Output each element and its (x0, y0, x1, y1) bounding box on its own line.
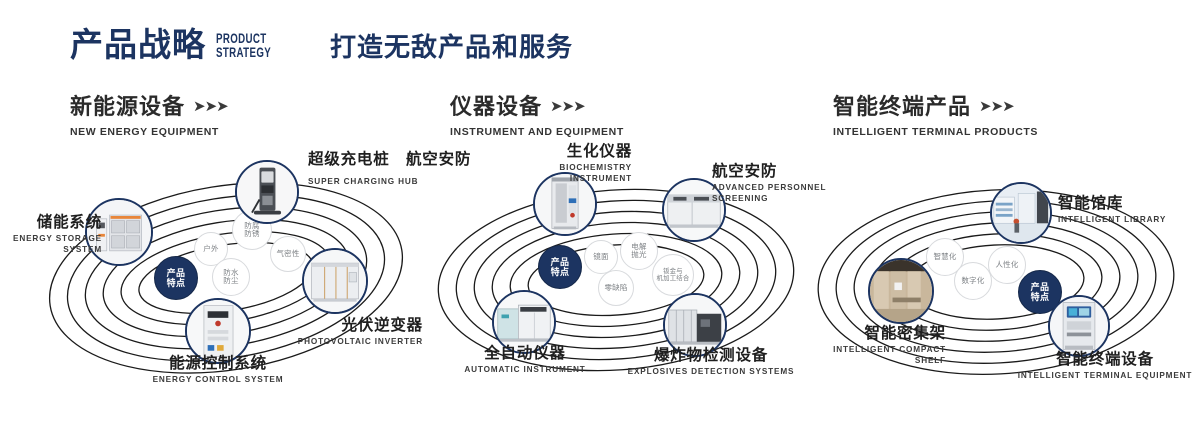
node-super-charging-hub[interactable] (235, 160, 299, 224)
feature-core-bubble: 产品 特点 (538, 245, 582, 289)
diagram-group-instrument: 产品 特点 镜面 电解 抛光 零缺陷 钣金与 机加工结合 (420, 150, 820, 410)
caption-automatic-instrument: 全自动仪器 AUTOMATIC INSTRUMENT (450, 346, 600, 376)
energy-control-system-photo (187, 300, 249, 362)
photovoltaic-inverter-photo (304, 250, 366, 312)
section-title-en: INSTRUMENT AND EQUIPMENT (450, 126, 624, 138)
diagram-group-intelligent-terminal: 智慧化 数字化 人性化 产品 特点 (800, 150, 1200, 410)
caption-photovoltaic-inverter: 光伏逆变器 PHOTOVOLTAIC INVERTER (293, 318, 423, 348)
caption-biochemistry-instrument: 生化仪器 BIOCHEMISTRY INSTRUMENT (512, 144, 632, 184)
section-title-cn: 智能终端产品➤➤➤ (833, 96, 1038, 118)
feature-bubble-digital: 数字化 (954, 262, 992, 300)
explosives-detection-photo (665, 295, 725, 355)
page-subtitle: 打造无敌产品和服务 (330, 34, 573, 60)
section-title-intelligent-terminal: 智能终端产品➤➤➤ INTELLIGENT TERMINAL PRODUCTS (833, 96, 1038, 138)
intelligent-library-photo (992, 184, 1050, 242)
caption-energy-control-system: 能源控制系统 ENERGY CONTROL SYSTEM (138, 356, 298, 386)
feature-bubble-waterproof: 防水 防尘 (212, 258, 250, 296)
caption-explosives-detection: 爆炸物检测设备 EXPLOSIVES DETECTION SYSTEMS (626, 348, 796, 378)
intelligent-compact-shelf-photo (870, 260, 932, 322)
feature-bubble-zero-defect: 零缺陷 (598, 270, 634, 306)
chevron-right-icon: ➤➤➤ (193, 99, 228, 114)
page-title-english: PRODUCT STRATEGY (216, 32, 271, 60)
automatic-instrument-photo (494, 292, 554, 352)
feature-bubble-mirror: 镜面 (584, 240, 618, 274)
section-title-en: INTELLIGENT TERMINAL PRODUCTS (833, 126, 1038, 138)
caption-energy-storage-system: 储能系统 ENERGY STORAGE SYSTEM (10, 215, 102, 255)
caption-intelligent-compact-shelf: 智能密集架 INTELLIGENT COMPACT SHELF (796, 326, 946, 366)
page-title: 产品战略 (70, 28, 206, 61)
section-title-new-energy: 新能源设备➤➤➤ NEW ENERGY EQUIPMENT (70, 96, 228, 138)
chevron-right-icon: ➤➤➤ (979, 99, 1014, 114)
node-intelligent-compact-shelf[interactable] (868, 258, 934, 324)
caption-intelligent-terminal-equipment: 智能终端设备 INTELLIGENT TERMINAL EQUIPMENT (1015, 352, 1195, 382)
node-photovoltaic-inverter[interactable] (302, 248, 368, 314)
feature-bubble-humanized: 人性化 (988, 246, 1026, 284)
diagram-group-new-energy: 产品 特点 户外 防腐 防锈 防水 防尘 气密性 (30, 150, 430, 410)
caption-aviation-security-extra: 航空安防 (406, 152, 526, 168)
node-intelligent-terminal-equipment[interactable] (1048, 295, 1110, 357)
feature-core-bubble: 产品 特点 (154, 256, 198, 300)
super-charging-hub-photo (237, 162, 297, 222)
section-title-instrument: 仪器设备➤➤➤ INSTRUMENT AND EQUIPMENT (450, 96, 624, 138)
feature-bubble-airtight: 气密性 (270, 236, 306, 272)
caption-intelligent-library: 智能馆库 INTELLIGENT LIBRARY (1058, 196, 1198, 226)
feature-bubble-sheetmetal-machining: 钣金与 机加工结合 (652, 254, 694, 296)
section-title-en: NEW ENERGY EQUIPMENT (70, 126, 228, 138)
node-intelligent-library[interactable] (990, 182, 1052, 244)
intelligent-terminal-photo (1050, 297, 1108, 355)
section-title-cn: 仪器设备➤➤➤ (450, 96, 624, 118)
feature-bubble-electropolish: 电解 抛光 (620, 232, 658, 270)
section-title-cn: 新能源设备➤➤➤ (70, 96, 228, 118)
product-strategy-infographic: 产品战略 PRODUCT STRATEGY 打造无敌产品和服务 新能源设备➤➤➤… (0, 0, 1200, 422)
chevron-right-icon: ➤➤➤ (550, 99, 585, 114)
